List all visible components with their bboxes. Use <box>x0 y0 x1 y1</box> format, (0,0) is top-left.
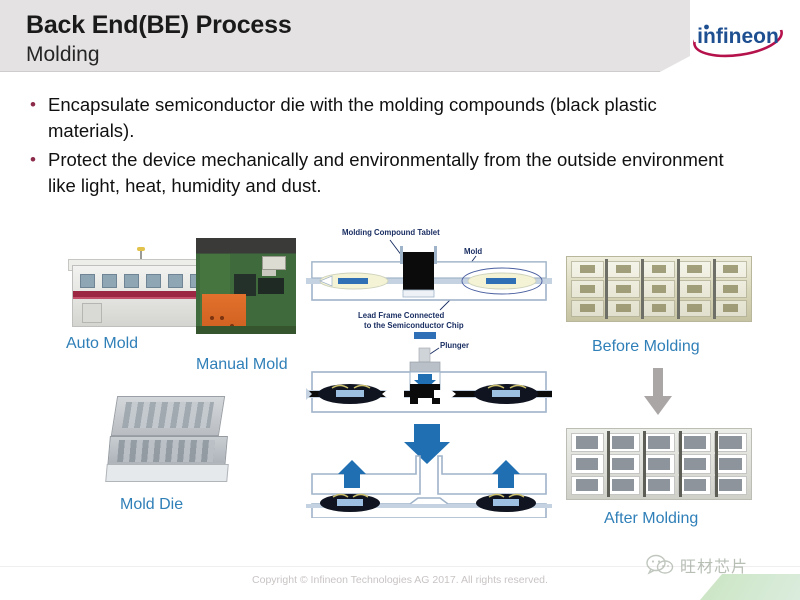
manual-mold-machine-image <box>196 238 296 334</box>
list-item: • Encapsulate semiconductor die with the… <box>30 92 730 144</box>
mold-die-caption: Mold Die <box>120 496 183 514</box>
diagram-label-tablet: Molding Compound Tablet <box>342 228 440 238</box>
bullet-text: Encapsulate semiconductor die with the m… <box>48 92 730 144</box>
infineon-logo: infineon <box>690 14 786 60</box>
page-title: Back End(BE) Process <box>26 10 586 40</box>
down-arrow-icon <box>640 366 676 418</box>
bullet-marker: • <box>30 147 48 173</box>
title-block: Back End(BE) Process Molding <box>26 10 586 68</box>
list-item: • Protect the device mechanically and en… <box>30 147 730 199</box>
wechat-icon <box>646 554 674 576</box>
bullet-marker: • <box>30 92 48 118</box>
manual-mold-caption: Manual Mold <box>196 356 288 374</box>
slide-canvas: Back End(BE) Process Molding infineon • … <box>0 0 800 600</box>
watermark-text: 旺材芯片 <box>680 553 748 577</box>
molding-process-diagram: Molding Compound Tablet Mold Lead Frame … <box>306 228 552 518</box>
diagram-label-mold: Mold <box>464 247 482 257</box>
page-subtitle: Molding <box>26 41 586 68</box>
logo-wordmark: infineon <box>697 25 779 48</box>
mold-die-image <box>98 392 230 484</box>
wechat-watermark: 旺材芯片 <box>646 548 796 582</box>
diagram-label-lead-frame-2: to the Semiconductor Chip <box>364 321 464 331</box>
diagram-label-plunger: Plunger <box>440 341 469 351</box>
bullet-text: Protect the device mechanically and envi… <box>48 147 730 199</box>
diagram-vectors <box>306 228 552 518</box>
bullet-list: • Encapsulate semiconductor die with the… <box>30 92 730 202</box>
after-molding-image <box>566 428 752 500</box>
after-molding-caption: After Molding <box>604 510 698 528</box>
before-molding-image <box>566 256 752 322</box>
diagram-label-lead-frame-1: Lead Frame Connected <box>358 311 444 321</box>
header-divider <box>0 71 660 72</box>
before-molding-caption: Before Molding <box>592 338 700 356</box>
auto-mold-caption: Auto Mold <box>66 335 138 353</box>
